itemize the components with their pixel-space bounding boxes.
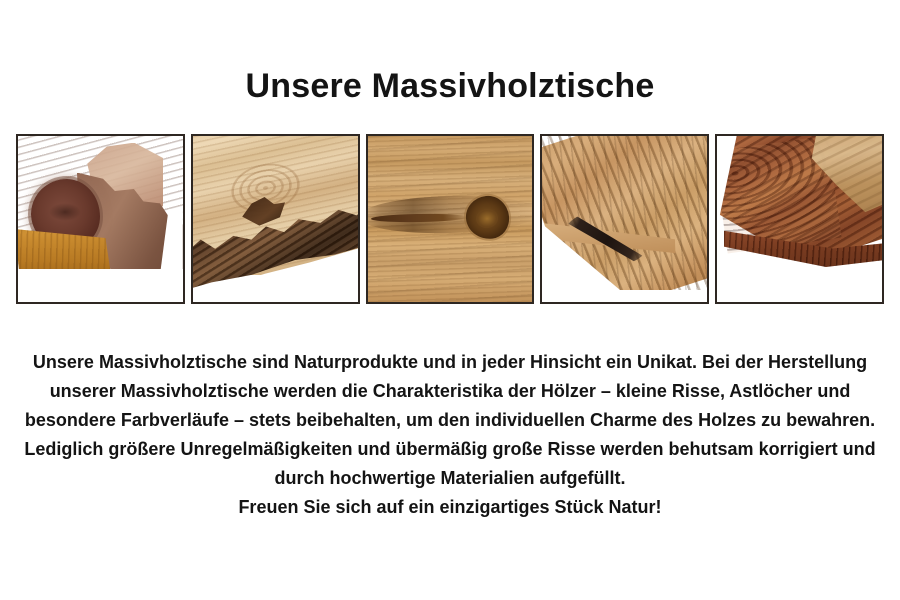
wood-photo-live-edge-slab-corner — [18, 136, 183, 302]
wood-photo-rough-sawn-board-with-filled-crack — [542, 136, 707, 302]
image-gallery-strip — [16, 134, 884, 304]
gallery-thumb-sheesham-slab-corner[interactable] — [715, 134, 884, 304]
wood-photo-sheesham-slab-corner — [717, 136, 882, 302]
description-text: Unsere Massivholztische sind Naturproduk… — [24, 348, 876, 522]
gallery-thumb-live-edge-slab-corner[interactable] — [16, 134, 185, 304]
wood-photo-blonde-top-with-bark-edge — [193, 136, 358, 302]
gallery-thumb-rough-sawn-board-with-filled-crack[interactable] — [540, 134, 709, 304]
wood-photo-tan-grain-with-knot — [368, 136, 533, 302]
product-info-banner: Unsere Massivholztische — [0, 0, 900, 600]
gallery-thumb-tan-grain-with-knot[interactable] — [366, 134, 535, 304]
page-title: Unsere Massivholztische — [0, 66, 900, 106]
description-paragraph-1: Unsere Massivholztische sind Naturproduk… — [24, 348, 876, 493]
gallery-thumb-blonde-top-with-bark-edge[interactable] — [191, 134, 360, 304]
description-paragraph-2: Freuen Sie sich auf ein einzigartiges St… — [24, 493, 876, 522]
